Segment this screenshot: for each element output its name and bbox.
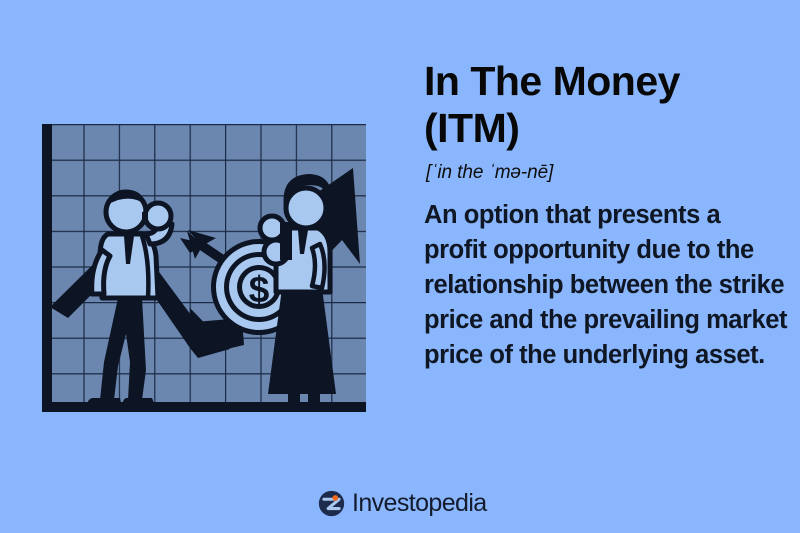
investopedia-logo-icon	[318, 490, 345, 517]
binoculars-icon	[260, 216, 292, 264]
investopedia-wordmark: Investopedia	[352, 490, 487, 517]
stock-chart-illustration: $	[30, 112, 380, 424]
investopedia-logo: Investopedia	[318, 490, 487, 517]
dollar-sign-icon: $	[249, 269, 270, 310]
svg-text:$: $	[249, 269, 270, 310]
page-title: In The Money (ITM)	[424, 58, 788, 152]
definition-text: An option that presents a profit opportu…	[424, 198, 788, 373]
definition-panel: In The Money (ITM) [ˈin the ˈmə-nē] An o…	[424, 58, 788, 373]
infographic-card: $	[0, 0, 800, 533]
pronunciation-text: [ˈin the ˈmə-nē]	[426, 160, 788, 186]
